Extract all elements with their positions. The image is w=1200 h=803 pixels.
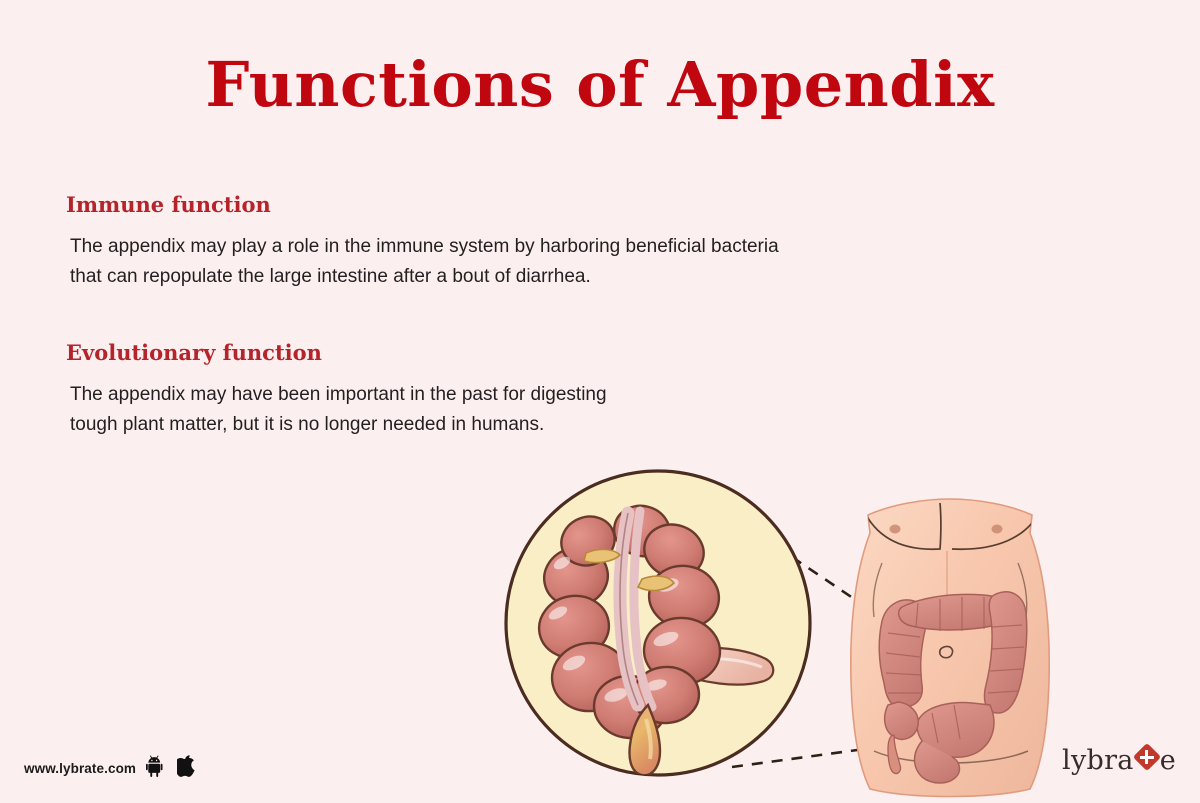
diamond-plus-icon <box>1135 745 1159 769</box>
section-evolutionary-function: Evolutionary function The appendix may h… <box>66 340 607 440</box>
nipple-right <box>992 525 1003 534</box>
brand-logo[interactable]: lybra e <box>1062 745 1176 776</box>
section-heading: Immune function <box>66 192 779 218</box>
body-line: The appendix may have been important in … <box>70 380 607 410</box>
apple-icon[interactable] <box>177 755 196 782</box>
brand-text-after: e <box>1160 745 1176 776</box>
poster-canvas: Functions of Appendix Immune function Th… <box>0 0 1200 803</box>
human-torso-diagram <box>851 499 1049 797</box>
section-body: The appendix may have been important in … <box>66 380 607 440</box>
android-icon[interactable] <box>146 755 167 782</box>
page-title: Functions of Appendix <box>0 48 1200 122</box>
section-immune-function: Immune function The appendix may play a … <box>66 192 779 292</box>
brand-text-before: lybra <box>1062 745 1134 776</box>
body-line: tough plant matter, but it is no longer … <box>70 410 607 440</box>
body-line: that can repopulate the large intestine … <box>70 262 779 292</box>
section-heading: Evolutionary function <box>66 340 607 366</box>
section-body: The appendix may play a role in the immu… <box>66 232 779 292</box>
site-url[interactable]: www.lybrate.com <box>24 761 136 776</box>
nipple-left <box>890 525 901 534</box>
appendix-closeup-circle <box>506 471 810 775</box>
body-line: The appendix may play a role in the immu… <box>70 232 779 262</box>
footer-left: www.lybrate.com <box>24 755 196 782</box>
appendix-illustration <box>470 455 1090 803</box>
